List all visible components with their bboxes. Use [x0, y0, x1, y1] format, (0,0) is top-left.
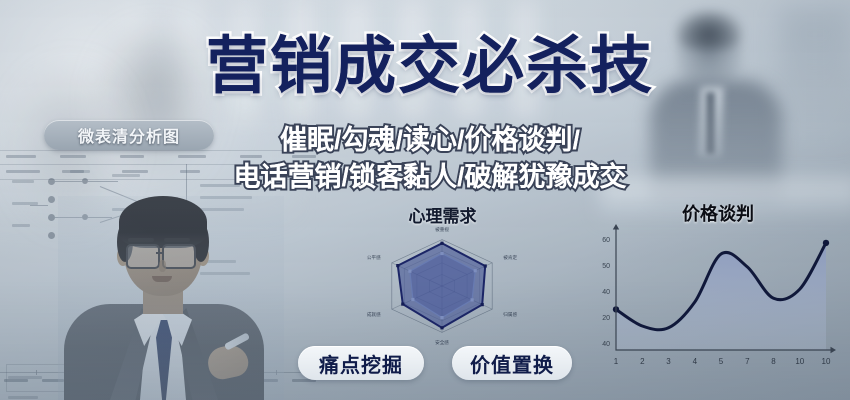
svg-text:5: 5 — [719, 357, 724, 366]
pill-pain-point[interactable]: 痛点挖掘 — [298, 346, 424, 380]
subtitle-line-1: 催眠/勾魂/读心/价格谈判/ — [150, 118, 710, 157]
line-chart-y-labels: 6050402040 — [602, 237, 610, 348]
speaker-overlay-haze — [58, 196, 284, 400]
svg-text:40: 40 — [602, 289, 610, 296]
svg-text:8: 8 — [771, 357, 776, 366]
svg-text:40: 40 — [602, 341, 610, 348]
pill-value-exchange-label: 价值置换 — [470, 349, 554, 378]
svg-text:7: 7 — [745, 357, 750, 366]
svg-text:10: 10 — [795, 357, 804, 366]
svg-text:2: 2 — [640, 357, 645, 366]
svg-text:成就感: 成就感 — [367, 311, 381, 318]
svg-text:被重视: 被重视 — [435, 226, 449, 233]
svg-text:60: 60 — [602, 237, 610, 244]
line-chart: 价格谈判 6050402040 12345781010 — [588, 200, 838, 390]
line-chart-x-labels: 12345781010 — [614, 357, 831, 366]
svg-text:安全感: 安全感 — [435, 339, 449, 346]
svg-text:被肯定: 被肯定 — [503, 254, 517, 261]
svg-text:3: 3 — [666, 357, 671, 366]
radar-chart-canvas: 被重视被肯定归属感安全感成就感公平感 — [335, 222, 550, 357]
background-shelf — [780, 10, 850, 140]
line-chart-area — [616, 243, 826, 350]
svg-text:公平感: 公平感 — [367, 254, 381, 261]
svg-text:归属感: 归属感 — [503, 311, 517, 318]
svg-text:20: 20 — [602, 315, 610, 322]
radar-chart: 心理需求 被重视被肯定归属感安全感成就感公平感 — [335, 200, 550, 360]
svg-text:1: 1 — [614, 357, 619, 366]
svg-text:10: 10 — [822, 357, 831, 366]
pill-value-exchange[interactable]: 价值置换 — [452, 346, 572, 380]
marketing-banner: 微表清分析图 营销成交必杀技 营销成交必杀技 催眠/勾魂/读心/价格谈判/ 催眠… — [0, 0, 850, 400]
line-chart-title: 价格谈判 — [608, 200, 828, 226]
svg-text:4: 4 — [693, 357, 698, 366]
speaker-photo — [58, 196, 284, 400]
svg-text:50: 50 — [602, 263, 610, 270]
subtitle-line-2: 电话营销/锁客黏人/破解犹豫成交 — [150, 155, 710, 194]
page-title: 营销成交必杀技 — [150, 36, 710, 98]
line-chart-canvas: 6050402040 12345781010 — [588, 224, 838, 384]
pill-pain-point-label: 痛点挖掘 — [319, 349, 403, 378]
